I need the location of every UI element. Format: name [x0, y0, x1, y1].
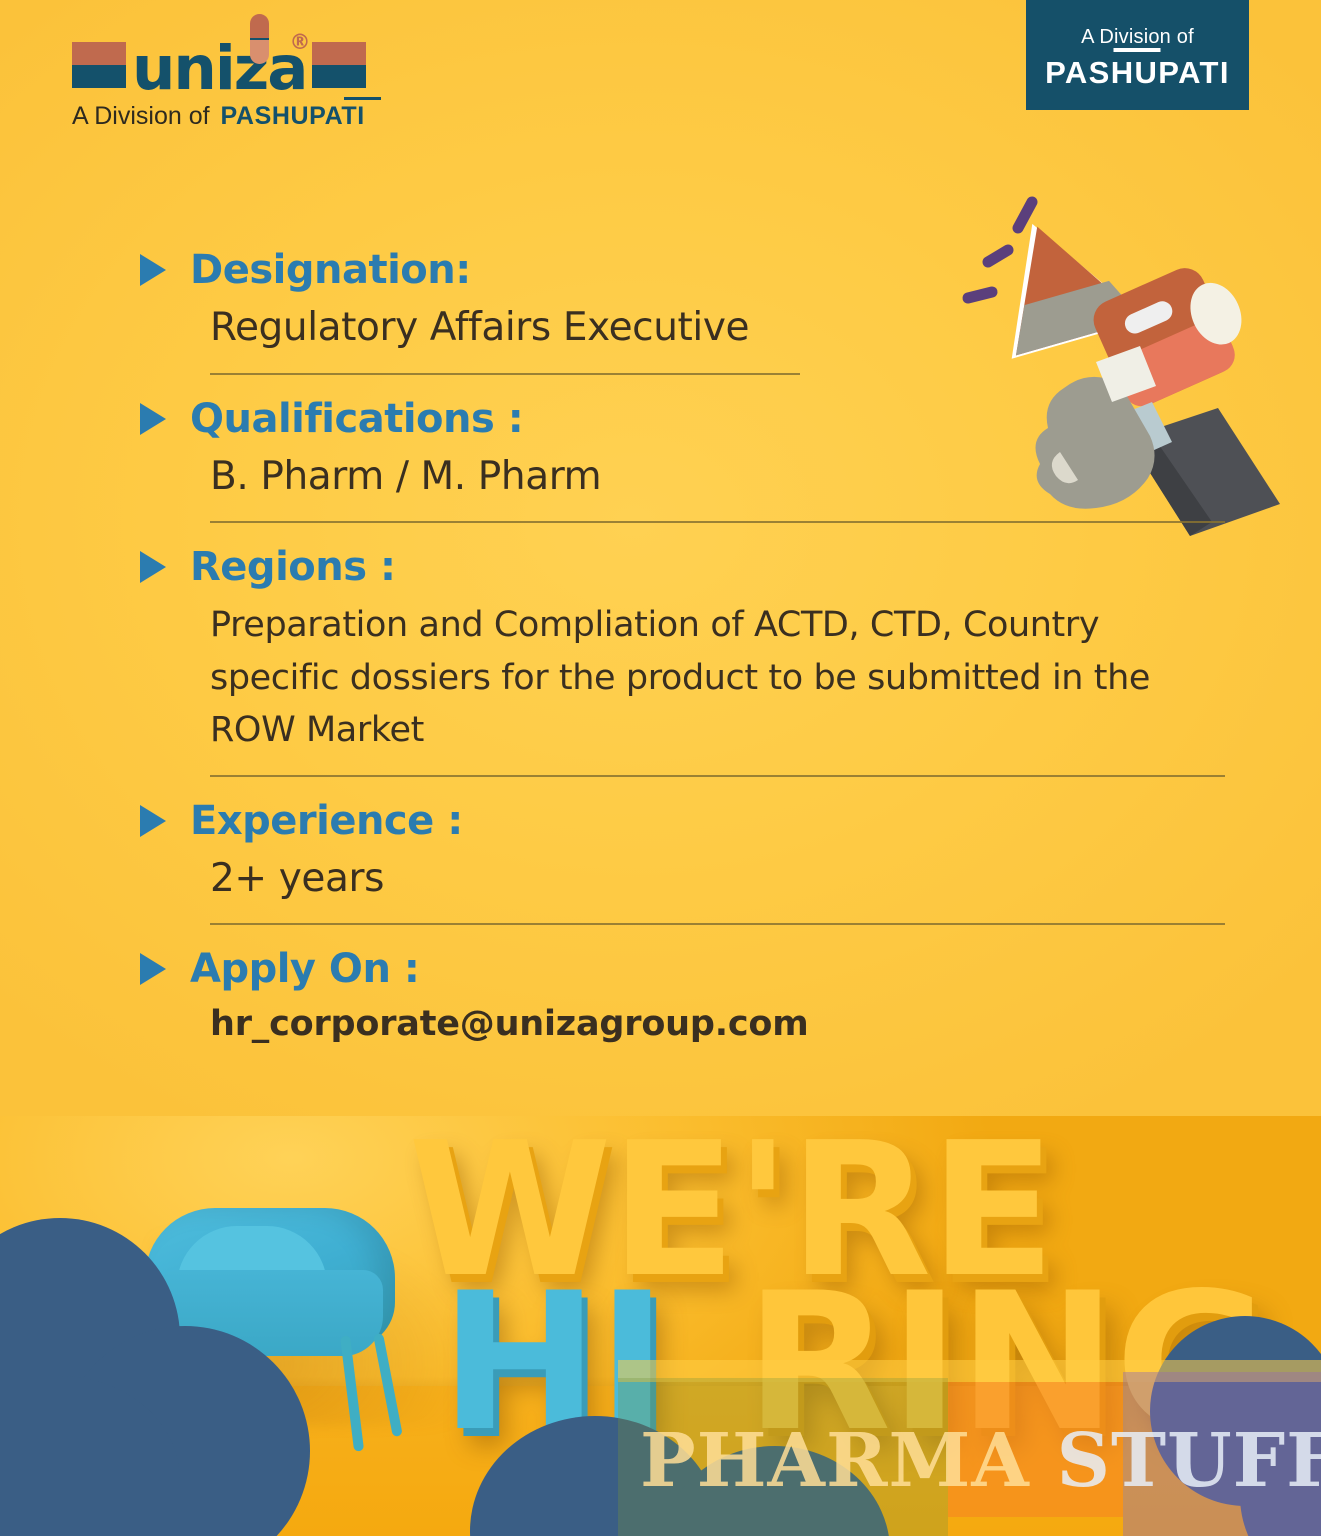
badge-subtitle: A Division of [1081, 27, 1194, 47]
apply-email-address[interactable]: hr_corporate@unizagroup.com [210, 1001, 1200, 1048]
designation-value: Regulatory Affairs Executive [210, 302, 1200, 355]
logo-mark-row: uniza ® [72, 34, 382, 96]
job-details-list: Designation: Regulatory Affairs Executiv… [140, 248, 1200, 1049]
section-divider [210, 775, 1225, 777]
experience-label: Experience : [190, 799, 463, 843]
section-apply-on: Apply On : hr_corporate@unizagroup.com [140, 947, 1200, 1048]
logo-tagline-brand: PASHUPATI [217, 102, 365, 130]
capsule-pill-icon [250, 14, 269, 64]
regions-value: Preparation and Compliation of ACTD, CTD… [210, 599, 1160, 757]
section-designation: Designation: Regulatory Affairs Executiv… [140, 248, 1200, 375]
triangle-right-icon [140, 805, 166, 837]
logo-word-text: uniza [132, 33, 306, 104]
logo-bar-right-icon [312, 42, 366, 88]
pashupati-division-badge: A Division of PASHUPATI [1026, 0, 1249, 110]
triangle-right-icon [140, 403, 166, 435]
logo-tagline-prefix: A Division of [72, 102, 210, 130]
apply-on-label: Apply On : [190, 947, 419, 991]
section-heading: Designation: [140, 248, 1200, 292]
designation-label: Designation: [190, 248, 471, 292]
regions-label: Regions : [190, 545, 395, 589]
section-heading: Experience : [140, 799, 1200, 843]
section-experience: Experience : 2+ years [140, 799, 1200, 926]
qualifications-value: B. Pharm / M. Pharm [210, 451, 1200, 504]
logo-tagline: A Division of PASHUPATI [72, 102, 382, 131]
section-divider [210, 373, 800, 375]
badge-brand-name: PASHUPATI [1045, 57, 1230, 88]
section-divider [210, 923, 1225, 925]
section-qualifications: Qualifications : B. Pharm / M. Pharm [140, 397, 1200, 524]
section-heading: Regions : [140, 545, 1200, 589]
job-poster: A Division of PASHUPATI uniza ® A Divisi… [0, 0, 1321, 1536]
section-divider [210, 521, 1225, 523]
uniza-logo: uniza ® A Division of PASHUPATI [72, 34, 382, 131]
logo-wordmark: uniza ® [132, 38, 306, 99]
logo-bar-left-icon [72, 42, 126, 88]
triangle-right-icon [140, 254, 166, 286]
triangle-right-icon [140, 953, 166, 985]
section-regions: Regions : Preparation and Compliation of… [140, 545, 1200, 777]
hiring-hero-scene: WE'RE HI RING [0, 1116, 1321, 1536]
triangle-right-icon [140, 551, 166, 583]
section-heading: Apply On : [140, 947, 1200, 991]
section-heading: Qualifications : [140, 397, 1200, 441]
qualifications-label: Qualifications : [190, 397, 523, 441]
registered-mark: ® [289, 32, 308, 53]
experience-value: 2+ years [210, 853, 1200, 906]
